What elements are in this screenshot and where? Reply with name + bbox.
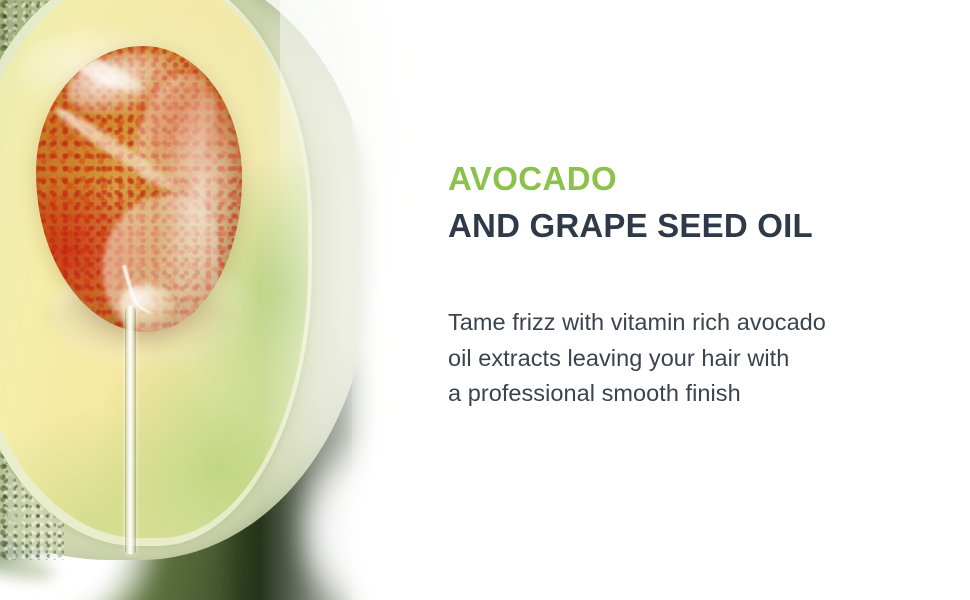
headline-main-line: AND GRAPE SEED OIL (448, 209, 970, 244)
avocado-photo (0, 0, 470, 600)
oil-stream (125, 306, 136, 554)
body-copy-line-1: Tame frizz with vitamin rich avocado (448, 305, 948, 341)
body-copy-line-3: a professional smooth finish (448, 376, 948, 412)
product-banner: AVOCADO AND GRAPE SEED OIL Tame frizz wi… (0, 0, 970, 600)
banner-content: AVOCADO AND GRAPE SEED OIL Tame frizz wi… (448, 0, 970, 600)
headline: AVOCADO AND GRAPE SEED OIL (448, 162, 970, 244)
avocado-half (0, 0, 370, 560)
body-copy: Tame frizz with vitamin rich avocado oil… (448, 305, 948, 412)
body-copy-line-2: oil extracts leaving your hair with (448, 341, 948, 377)
headline-accent-line: AVOCADO (448, 162, 970, 197)
